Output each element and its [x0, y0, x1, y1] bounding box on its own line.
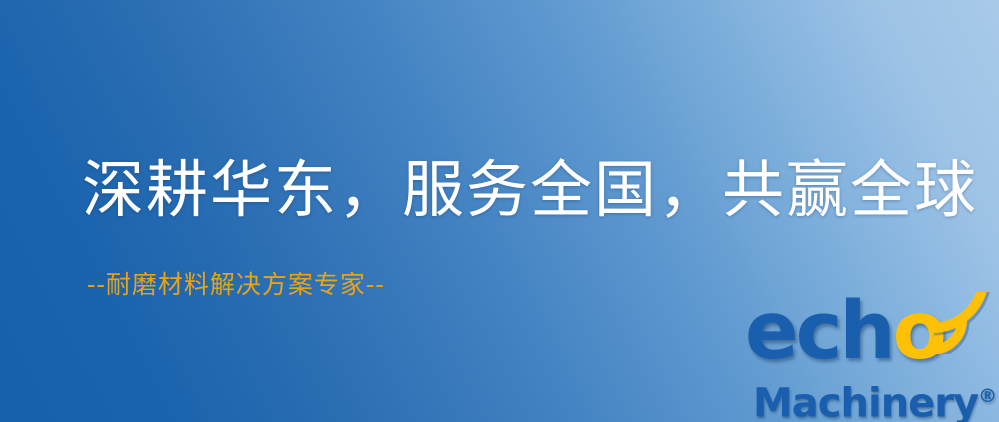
registered-trademark-icon: ®	[978, 385, 997, 407]
banner-headline: 深耕华东，服务全国，共赢全球	[82, 154, 978, 226]
promotional-banner: 深耕华东，服务全国，共赢全球 --耐磨材料解决方案专家-- echo Machi…	[0, 0, 999, 422]
logo-wordmark: echo	[742, 296, 994, 372]
company-logo: echo Machinery®	[742, 296, 994, 418]
logo-brand-text: echo	[745, 292, 944, 371]
signal-waves-icon	[918, 292, 994, 354]
logo-tagline-text: Machinery	[753, 380, 978, 422]
banner-subheadline: --耐磨材料解决方案专家--	[87, 268, 385, 302]
logo-tagline: Machinery®	[753, 376, 997, 422]
logo-brand-prefix: ech	[745, 285, 893, 377]
